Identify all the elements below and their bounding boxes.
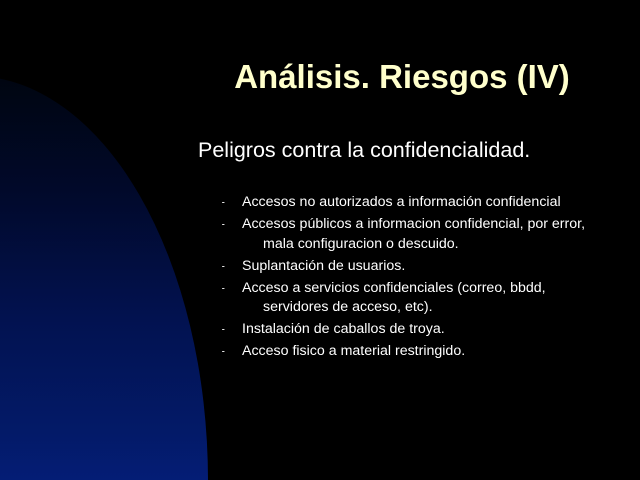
bullet-dash-icon: –: [232, 278, 235, 298]
blue-ellipse-decoration: [0, 76, 208, 480]
bullet-list-item: –Suplantación de usuarios.: [231, 256, 609, 277]
bullet-dash-icon: –: [232, 341, 235, 361]
slide-title: Análisis. Riesgos (IV): [176, 58, 628, 96]
bullet-item-label: Suplantación de usuarios.: [242, 258, 405, 274]
presentation-slide: Análisis. Riesgos (IV) Peligros contra l…: [0, 0, 640, 480]
bullet-item-text: –Acceso fisico a material restringido.: [232, 341, 609, 362]
bullet-list-item: –Accesos públicos a informacion confiden…: [231, 214, 609, 254]
bullet-item-text: –Accesos no autorizados a información co…: [232, 192, 609, 213]
bullet-item-text: –Accesos públicos a informacion confiden…: [232, 214, 609, 254]
bullet-list-item: –Acceso a servicios confidenciales (corr…: [231, 278, 609, 318]
bullet-dash-icon: –: [232, 192, 235, 212]
bullet-item-label: Instalación de caballos de troya.: [242, 321, 445, 337]
bullet-item-label: Accesos públicos a informacion confidenc…: [242, 216, 585, 252]
bullet-list: –Accesos no autorizados a información co…: [231, 192, 609, 363]
bullet-dash-icon: –: [232, 256, 235, 276]
bullet-dash-icon: –: [232, 214, 235, 234]
bullet-item-text: –Suplantación de usuarios.: [232, 256, 609, 277]
bullet-list-item: –Instalación de caballos de troya.: [231, 319, 609, 340]
slide-subtitle: Peligros contra la confidencialidad.: [198, 137, 618, 163]
bullet-item-label: Acceso fisico a material restringido.: [242, 343, 465, 359]
bullet-list-item: –Accesos no autorizados a información co…: [231, 192, 609, 213]
bullet-item-label: Accesos no autorizados a información con…: [242, 194, 561, 210]
bullet-list-item: –Acceso fisico a material restringido.: [231, 341, 609, 362]
bullet-item-text: –Instalación de caballos de troya.: [232, 319, 609, 340]
bullet-item-text: –Acceso a servicios confidenciales (corr…: [232, 278, 609, 318]
bullet-dash-icon: –: [232, 319, 235, 339]
bullet-item-label: Acceso a servicios confidenciales (corre…: [242, 280, 546, 316]
